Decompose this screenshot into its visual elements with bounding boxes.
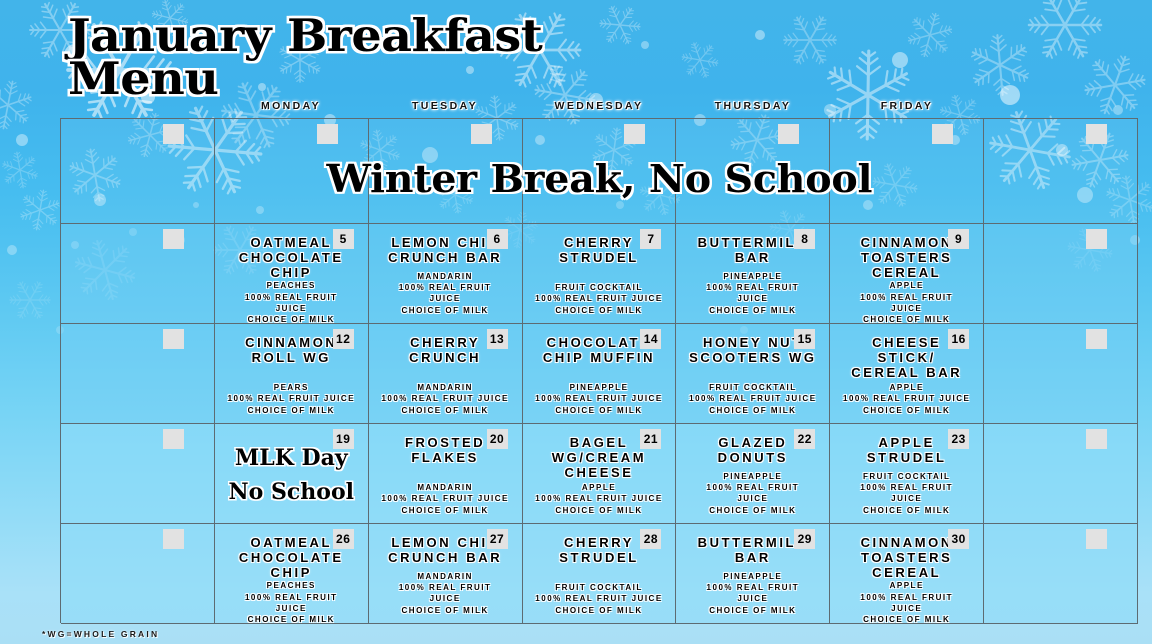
no-school-line2: No School (219, 475, 364, 509)
menu-sides: APPLE100% REAL FRUIT JUICECHOICE OF MILK (529, 482, 668, 516)
menu-side-line: CHOICE OF MILK (222, 314, 361, 324)
calendar-cell: 7CHERRY STRUDELFRUIT COCKTAIL100% REAL F… (523, 224, 677, 324)
day-header-thursday: THURSDAY (676, 100, 830, 112)
menu-sides: FRUIT COCKTAIL100% REAL FRUIT JUICECHOIC… (683, 382, 822, 416)
date-badge: 28 (640, 529, 661, 549)
menu-sides: PINEAPPLE100% REAL FRUITJUICECHOICE OF M… (683, 471, 822, 516)
date-badge: 26 (333, 529, 354, 549)
calendar-cell: 27LEMON CHIP CRUNCH BARMANDARIN100% REAL… (369, 524, 523, 624)
menu-side-line: CHOICE OF MILK (683, 405, 822, 416)
menu-sides: APPLE100% REAL FRUIT JUICECHOICE OF MILK (837, 382, 976, 416)
menu-sides: PINEAPPLE100% REAL FRUITJUICECHOICE OF M… (683, 271, 822, 316)
calendar-cell (984, 119, 1138, 224)
page-title-line1: January Breakfast (68, 14, 566, 57)
menu-side-line: CHOICE OF MILK (376, 505, 515, 516)
menu-sides: PEARS100% REAL FRUIT JUICECHOICE OF MILK (222, 382, 361, 416)
menu-side-line: 100% REAL FRUIT JUICE (529, 493, 668, 504)
page-title-line2: Menu (68, 57, 566, 100)
menu-side-line: CHOICE OF MILK (222, 614, 361, 624)
calendar-cell (830, 119, 984, 224)
menu-side-line: PINEAPPLE (529, 382, 668, 393)
menu-side-line: JUICE (837, 603, 976, 614)
calendar-cell: 22GLAZED DONUTSPINEAPPLE100% REAL FRUITJ… (676, 424, 830, 524)
menu-side-line: PINEAPPLE (683, 271, 822, 282)
menu-sides: MANDARIN100% REAL FRUIT JUICECHOICE OF M… (376, 482, 515, 516)
menu-side-line: 100% REAL FRUIT (222, 292, 361, 303)
calendar-cell: 21BAGEL WG/CREAM CHEESEAPPLE100% REAL FR… (523, 424, 677, 524)
date-badge: 29 (794, 529, 815, 549)
menu-side-line: JUICE (222, 603, 361, 614)
page-title: January Breakfast Menu (68, 14, 566, 100)
calendar-cell: 6LEMON CHIP CRUNCH BARMANDARIN100% REAL … (369, 224, 523, 324)
menu-side-line: PEACHES (222, 280, 361, 291)
menu-side-line: 100% REAL FRUIT JUICE (529, 593, 668, 604)
date-badge-empty (1086, 429, 1107, 449)
menu-side-line: 100% REAL FRUIT (683, 282, 822, 293)
date-badge-empty (778, 124, 799, 144)
menu-side-line: 100% REAL FRUIT JUICE (376, 393, 515, 404)
menu-side-line: MANDARIN (376, 271, 515, 282)
calendar-cell: 19MLK DayNo School (215, 424, 369, 524)
menu-sides: MANDARIN100% REAL FRUITJUICECHOICE OF MI… (376, 571, 515, 616)
day-header-tuesday: TUESDAY (368, 100, 522, 112)
date-badge: 27 (487, 529, 508, 549)
menu-side-line: 100% REAL FRUIT (683, 482, 822, 493)
menu-side-line: 100% REAL FRUIT (837, 592, 976, 603)
calendar-cell: 12CINNAMON ROLL WGPEARS100% REAL FRUIT J… (215, 324, 369, 424)
calendar-cell (676, 119, 830, 224)
menu-side-line: 100% REAL FRUIT JUICE (837, 393, 976, 404)
date-badge-empty (163, 529, 184, 549)
calendar-cell (984, 324, 1138, 424)
date-badge: 12 (333, 329, 354, 349)
menu-side-line: FRUIT COCKTAIL (529, 582, 668, 593)
menu-side-line: PEARS (222, 382, 361, 393)
menu-side-line: 100% REAL FRUIT JUICE (529, 393, 668, 404)
menu-side-line: CHOICE OF MILK (376, 305, 515, 316)
menu-side-line: 100% REAL FRUIT (837, 292, 976, 303)
menu-sides: FRUIT COCKTAIL100% REAL FRUITJUICECHOICE… (837, 471, 976, 516)
date-badge-empty (1086, 329, 1107, 349)
calendar-cell: 26OATMEAL CHOCOLATE CHIPPEACHES100% REAL… (215, 524, 369, 624)
menu-side-line: JUICE (683, 293, 822, 304)
menu-side-line: JUICE (376, 293, 515, 304)
calendar-cell (61, 224, 215, 324)
date-badge-empty (471, 124, 492, 144)
date-badge: 8 (794, 229, 815, 249)
menu-sides: APPLE100% REAL FRUITJUICECHOICE OF MILK (837, 280, 976, 324)
menu-side-line: 100% REAL FRUIT (683, 582, 822, 593)
menu-side-line: CHOICE OF MILK (529, 405, 668, 416)
date-badge: 7 (640, 229, 661, 249)
menu-side-line: CHOICE OF MILK (529, 305, 668, 316)
menu-side-line: CHOICE OF MILK (683, 305, 822, 316)
menu-side-line: FRUIT COCKTAIL (683, 382, 822, 393)
date-badge-empty (317, 124, 338, 144)
date-badge: 22 (794, 429, 815, 449)
menu-side-line: APPLE (837, 280, 976, 291)
date-badge-empty (163, 329, 184, 349)
calendar-cell: 13CHERRY CRUNCHMANDARIN100% REAL FRUIT J… (369, 324, 523, 424)
menu-sides: PEACHES100% REAL FRUITJUICECHOICE OF MIL… (222, 580, 361, 624)
menu-sides: PEACHES100% REAL FRUITJUICECHOICE OF MIL… (222, 280, 361, 324)
calendar-cell (61, 524, 215, 624)
footer-note: *WG=WHOLE GRAIN (42, 629, 159, 639)
date-badge: 30 (948, 529, 969, 549)
date-badge: 20 (487, 429, 508, 449)
date-badge: 6 (487, 229, 508, 249)
menu-side-line: CHOICE OF MILK (222, 405, 361, 416)
calendar-cell (61, 424, 215, 524)
day-header-wednesday: WEDNESDAY (522, 100, 676, 112)
calendar-cell: 14CHOCOLATE CHIP MUFFINPINEAPPLE100% REA… (523, 324, 677, 424)
menu-side-line: 100% REAL FRUIT JUICE (376, 493, 515, 504)
calendar-cell: 15HONEY NUT SCOOTERS WGFRUIT COCKTAIL100… (676, 324, 830, 424)
date-badge-empty (163, 229, 184, 249)
menu-sides: PINEAPPLE100% REAL FRUITJUICECHOICE OF M… (683, 571, 822, 616)
menu-side-line: MANDARIN (376, 382, 515, 393)
menu-sides: APPLE100% REAL FRUITJUICECHOICE OF MILK (837, 580, 976, 624)
menu-side-line: 100% REAL FRUIT (222, 592, 361, 603)
date-badge-empty (932, 124, 953, 144)
menu-side-line: CHOICE OF MILK (837, 314, 976, 324)
calendar-cell: 29BUTTERMILK BARPINEAPPLE100% REAL FRUIT… (676, 524, 830, 624)
menu-side-line: CHOICE OF MILK (837, 614, 976, 624)
date-badge-empty (1086, 229, 1107, 249)
menu-side-line: CHOICE OF MILK (376, 605, 515, 616)
menu-side-line: CHOICE OF MILK (683, 505, 822, 516)
calendar-cell: 23APPLE STRUDELFRUIT COCKTAIL100% REAL F… (830, 424, 984, 524)
calendar-cell (984, 524, 1138, 624)
menu-side-line: CHOICE OF MILK (529, 605, 668, 616)
menu-side-line: PINEAPPLE (683, 471, 822, 482)
date-badge: 5 (333, 229, 354, 249)
calendar-cell: 28CHERRY STRUDELFRUIT COCKTAIL100% REAL … (523, 524, 677, 624)
calendar-cell (61, 119, 215, 224)
date-badge-empty (163, 429, 184, 449)
date-badge-empty (1086, 124, 1107, 144)
calendar-cell: 9CINNAMON TOASTERS CEREALAPPLE100% REAL … (830, 224, 984, 324)
menu-side-line: CHOICE OF MILK (376, 405, 515, 416)
menu-sides: FRUIT COCKTAIL100% REAL FRUIT JUICECHOIC… (529, 582, 668, 616)
calendar-cell (215, 119, 369, 224)
calendar-cell: 30CINNAMON TOASTERS CEREALAPPLE100% REAL… (830, 524, 984, 624)
calendar-cell: 5OATMEAL CHOCOLATE CHIPPEACHES100% REAL … (215, 224, 369, 324)
calendar-cell (61, 324, 215, 424)
menu-calendar-grid: 5OATMEAL CHOCOLATE CHIPPEACHES100% REAL … (60, 118, 1138, 623)
menu-side-line: 100% REAL FRUIT (376, 582, 515, 593)
menu-sides: MANDARIN100% REAL FRUITJUICECHOICE OF MI… (376, 271, 515, 316)
menu-side-line: JUICE (683, 593, 822, 604)
menu-side-line: 100% REAL FRUIT JUICE (222, 393, 361, 404)
menu-side-line: 100% REAL FRUIT JUICE (529, 293, 668, 304)
date-badge: 9 (948, 229, 969, 249)
date-badge: 13 (487, 329, 508, 349)
date-badge-empty (1086, 529, 1107, 549)
date-badge: 14 (640, 329, 661, 349)
menu-side-line: JUICE (683, 493, 822, 504)
menu-side-line: CHOICE OF MILK (837, 505, 976, 516)
menu-side-line: JUICE (837, 493, 976, 504)
menu-side-line: PEACHES (222, 580, 361, 591)
date-badge-empty (163, 124, 184, 144)
date-badge: 16 (948, 329, 969, 349)
calendar-cell (984, 224, 1138, 324)
date-badge-empty (624, 124, 645, 144)
date-badge: 19 (333, 429, 354, 449)
day-of-week-header: MONDAYTUESDAYWEDNESDAYTHURSDAYFRIDAY (60, 100, 1138, 112)
menu-side-line: APPLE (837, 580, 976, 591)
menu-sides: MANDARIN100% REAL FRUIT JUICECHOICE OF M… (376, 382, 515, 416)
menu-side-line: JUICE (837, 303, 976, 314)
menu-side-line: PINEAPPLE (683, 571, 822, 582)
menu-side-line: APPLE (529, 482, 668, 493)
calendar-cell (523, 119, 677, 224)
menu-side-line: CHOICE OF MILK (529, 505, 668, 516)
menu-sides: FRUIT COCKTAIL100% REAL FRUIT JUICECHOIC… (529, 282, 668, 316)
date-badge: 15 (794, 329, 815, 349)
day-header-monday: MONDAY (214, 100, 368, 112)
date-badge: 23 (948, 429, 969, 449)
menu-side-line: FRUIT COCKTAIL (837, 471, 976, 482)
menu-side-line: 100% REAL FRUIT (376, 282, 515, 293)
menu-side-line: CHOICE OF MILK (837, 405, 976, 416)
calendar-cell (984, 424, 1138, 524)
menu-side-line: JUICE (376, 593, 515, 604)
menu-side-line: CHOICE OF MILK (683, 605, 822, 616)
menu-side-line: FRUIT COCKTAIL (529, 282, 668, 293)
no-school-notice: MLK DayNo School (219, 441, 364, 509)
menu-side-line: JUICE (222, 303, 361, 314)
day-header-friday: FRIDAY (830, 100, 984, 112)
calendar-cell: 8BUTTERMILK BARPINEAPPLE100% REAL FRUITJ… (676, 224, 830, 324)
menu-sides: PINEAPPLE100% REAL FRUIT JUICECHOICE OF … (529, 382, 668, 416)
menu-side-line: MANDARIN (376, 571, 515, 582)
menu-side-line: 100% REAL FRUIT JUICE (683, 393, 822, 404)
calendar-cell: 16CHEESE STICK/ CEREAL BARAPPLE100% REAL… (830, 324, 984, 424)
menu-side-line: APPLE (837, 382, 976, 393)
calendar-cell: 20FROSTED FLAKESMANDARIN100% REAL FRUIT … (369, 424, 523, 524)
menu-side-line: 100% REAL FRUIT (837, 482, 976, 493)
menu-side-line: MANDARIN (376, 482, 515, 493)
calendar-cell (369, 119, 523, 224)
date-badge: 21 (640, 429, 661, 449)
